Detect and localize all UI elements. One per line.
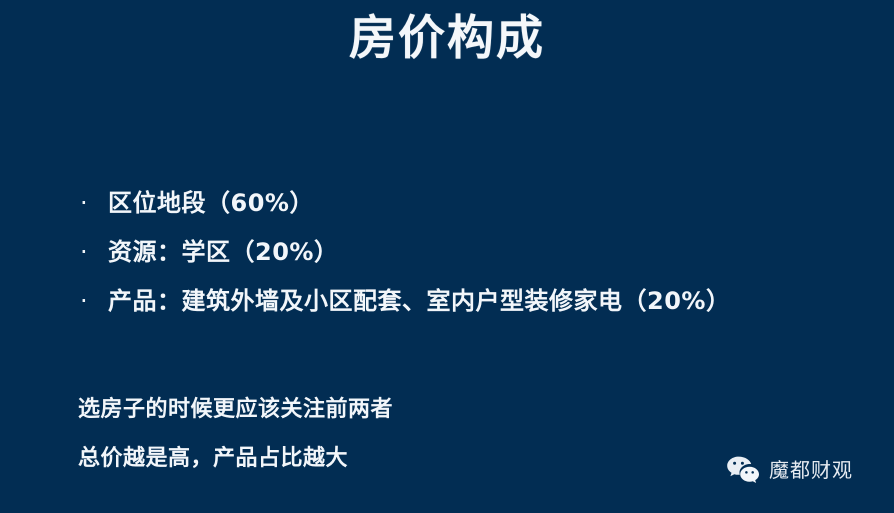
conclusion-line: 选房子的时候更应该关注前两者: [78, 385, 778, 434]
watermark-label: 魔都财观: [769, 458, 853, 482]
bullet-item-label: 产品：建筑外墙及小区配套、室内户型装修家电（20%）: [108, 284, 730, 318]
bullet-dot-icon: ·: [76, 186, 108, 220]
list-item: · 产品：建筑外墙及小区配套、室内户型装修家电（20%）: [76, 284, 866, 333]
bullet-item-label: 区位地段（60%）: [108, 186, 314, 220]
watermark: 魔都财观: [726, 455, 853, 485]
slide-canvas: 房价构成 · 区位地段（60%） · 资源：学区（20%） · 产品：建筑外墙及…: [0, 0, 894, 513]
conclusion-line: 总价越是高，产品占比越大: [78, 434, 778, 483]
list-item: · 区位地段（60%）: [76, 186, 866, 235]
page-title: 房价构成: [0, 8, 894, 70]
bullet-list: · 区位地段（60%） · 资源：学区（20%） · 产品：建筑外墙及小区配套、…: [76, 186, 866, 333]
wechat-icon: [726, 455, 760, 485]
list-item: · 资源：学区（20%）: [76, 235, 866, 284]
bullet-dot-icon: ·: [76, 284, 108, 318]
bullet-item-label: 资源：学区（20%）: [108, 235, 338, 269]
conclusion-block: 选房子的时候更应该关注前两者 总价越是高，产品占比越大: [78, 385, 778, 483]
bullet-dot-icon: ·: [76, 235, 108, 269]
